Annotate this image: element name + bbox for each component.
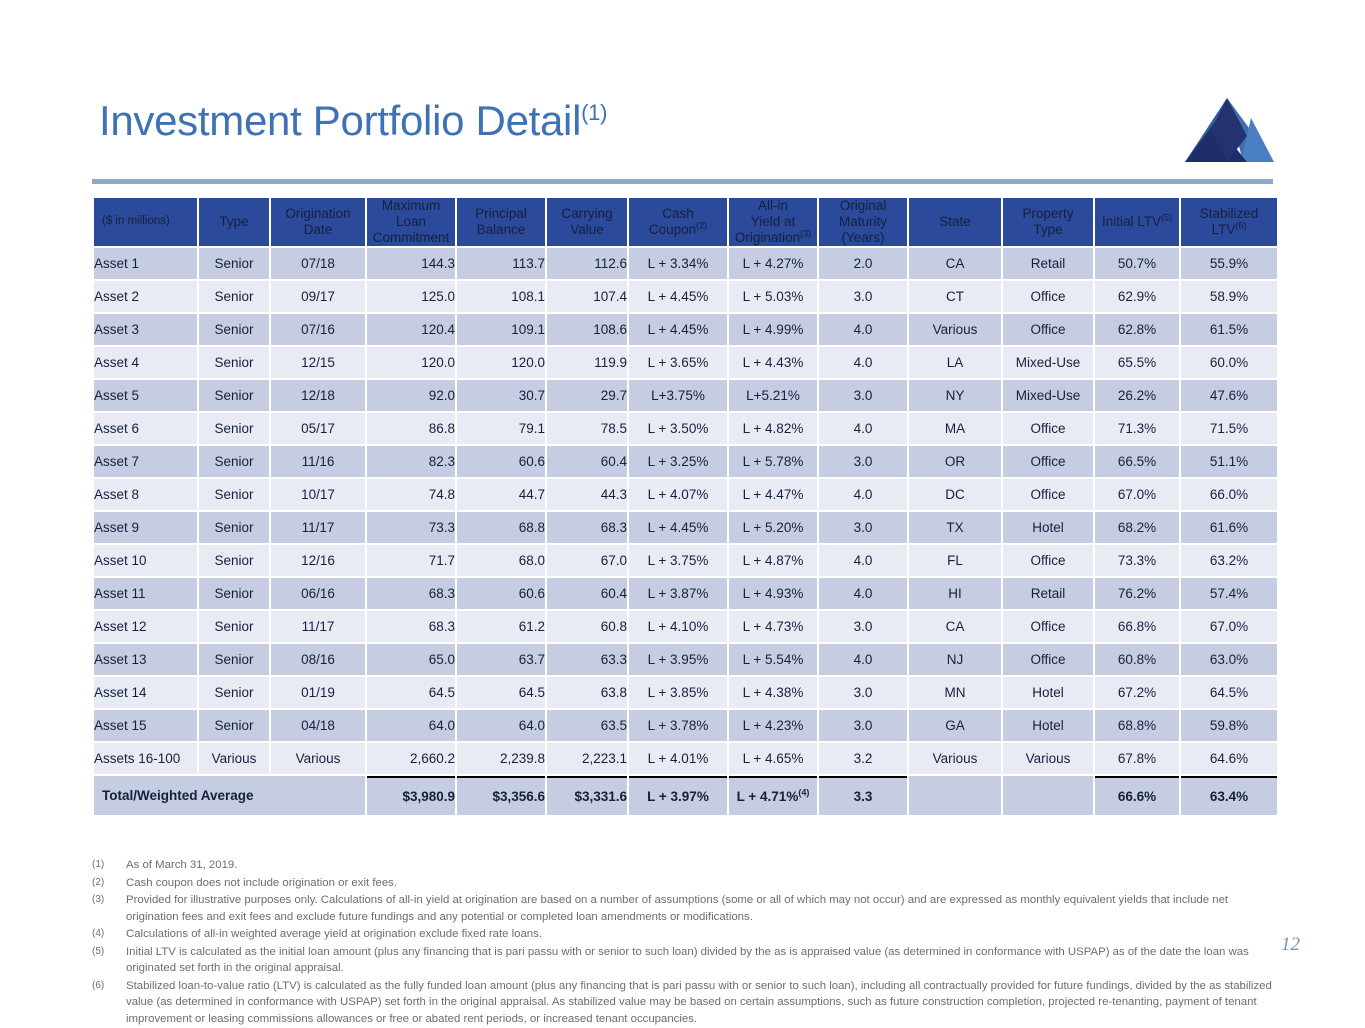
cell-r14-c11: 68.8%: [1095, 710, 1179, 741]
cell-r6-c10: Office: [1003, 446, 1093, 477]
cell-r14-c1: Senior: [199, 710, 269, 741]
header-line1: All-in: [758, 198, 788, 213]
cell-r14-c10: Hotel: [1003, 710, 1093, 741]
cell-r1-c1: Senior: [199, 281, 269, 312]
table-row[interactable]: Asset 10Senior12/1671.768.067.0L + 3.75%…: [94, 545, 1277, 576]
table-row[interactable]: Asset 1Senior07/18144.3113.7112.6L + 3.3…: [94, 248, 1277, 279]
total-principal-balance: $3,356.6: [457, 776, 545, 815]
cell-r3-c9: LA: [909, 347, 1001, 378]
cell-r0-c12: 55.9%: [1181, 248, 1277, 279]
cell-r4-c3: 92.0: [367, 380, 455, 411]
cell-r7-c1: Senior: [199, 479, 269, 510]
cell-r12-c8: 4.0: [819, 644, 907, 675]
cell-r10-c4: 60.6: [457, 578, 545, 609]
cell-r2-c0: Asset 3: [94, 314, 197, 345]
footnote-number: (4): [92, 926, 126, 943]
header-line3: Balance: [477, 222, 526, 237]
cell-r6-c0: Asset 7: [94, 446, 197, 477]
column-header-12[interactable]: StabilizedLTV(6): [1181, 198, 1277, 246]
cell-r4-c9: NY: [909, 380, 1001, 411]
footnote-item: (2)Cash coupon does not include originat…: [92, 875, 1282, 892]
cell-r9-c10: Office: [1003, 545, 1093, 576]
cell-r3-c5: 119.9: [547, 347, 627, 378]
cell-r4-c0: Asset 5: [94, 380, 197, 411]
cell-r11-c8: 3.0: [819, 611, 907, 642]
cell-r15-c2: Various: [271, 743, 365, 774]
footnote-number: (1): [92, 857, 126, 874]
column-header-9[interactable]: State: [909, 198, 1001, 246]
footnotes-block: (1)As of March 31, 2019.(2)Cash coupon d…: [92, 857, 1282, 1028]
cell-r5-c0: Asset 6: [94, 413, 197, 444]
cell-r7-c12: 66.0%: [1181, 479, 1277, 510]
cell-r1-c9: CT: [909, 281, 1001, 312]
table-row[interactable]: Asset 8Senior10/1774.844.744.3L + 4.07%L…: [94, 479, 1277, 510]
cell-r9-c3: 71.7: [367, 545, 455, 576]
cell-r8-c2: 11/17: [271, 512, 365, 543]
cell-r0-c2: 07/18: [271, 248, 365, 279]
cell-r10-c6: L + 3.87%: [629, 578, 727, 609]
cell-r7-c0: Asset 8: [94, 479, 197, 510]
cell-r4-c7: L+5.21%: [729, 380, 817, 411]
header-footnote-ref: (2): [696, 220, 707, 230]
cell-r2-c2: 07/16: [271, 314, 365, 345]
cell-r12-c9: NJ: [909, 644, 1001, 675]
total-label: Total/Weighted Average: [94, 776, 365, 815]
cell-r14-c9: GA: [909, 710, 1001, 741]
column-header-11[interactable]: Initial LTV(5): [1095, 198, 1179, 246]
header-line2: Cash: [662, 206, 694, 221]
cell-r12-c4: 63.7: [457, 644, 545, 675]
column-header-8[interactable]: OriginalMaturity(Years): [819, 198, 907, 246]
total-footnote-ref: (4): [798, 787, 809, 797]
cell-r14-c3: 64.0: [367, 710, 455, 741]
cell-r7-c7: L + 4.47%: [729, 479, 817, 510]
cell-r3-c7: L + 4.43%: [729, 347, 817, 378]
cell-r3-c11: 65.5%: [1095, 347, 1179, 378]
footnote-item: (3)Provided for illustrative purposes on…: [92, 892, 1282, 925]
cell-r2-c8: 4.0: [819, 314, 907, 345]
cell-r12-c3: 65.0: [367, 644, 455, 675]
cell-r11-c4: 61.2: [457, 611, 545, 642]
page-title-wrapper: Investment Portfolio Detail(1): [99, 100, 607, 142]
table-row[interactable]: Asset 9Senior11/1773.368.868.3L + 4.45%L…: [94, 512, 1277, 543]
header-line3: Value: [570, 222, 604, 237]
cell-r15-c9: Various: [909, 743, 1001, 774]
cell-r7-c9: DC: [909, 479, 1001, 510]
cell-r9-c0: Asset 10: [94, 545, 197, 576]
cell-r8-c11: 68.2%: [1095, 512, 1179, 543]
column-header-5[interactable]: CarryingValue: [547, 198, 627, 246]
cell-r3-c4: 120.0: [457, 347, 545, 378]
cell-r3-c2: 12/15: [271, 347, 365, 378]
cell-r14-c8: 3.0: [819, 710, 907, 741]
cell-r15-c5: 2,223.1: [547, 743, 627, 774]
cell-r1-c0: Asset 2: [94, 281, 197, 312]
cell-r10-c10: Retail: [1003, 578, 1093, 609]
cell-r8-c4: 68.8: [457, 512, 545, 543]
cell-r5-c3: 86.8: [367, 413, 455, 444]
cell-r0-c3: 144.3: [367, 248, 455, 279]
column-header-2[interactable]: OriginationDate: [271, 198, 365, 246]
footnote-text: Stabilized loan-to-value ratio (LTV) is …: [126, 978, 1282, 1028]
cell-r2-c12: 61.5%: [1181, 314, 1277, 345]
total-max-loan-commitment: $3,980.9: [367, 776, 455, 815]
cell-r14-c2: 04/18: [271, 710, 365, 741]
cell-r13-c10: Hotel: [1003, 677, 1093, 708]
header-line3: LTV: [1212, 222, 1236, 237]
cell-r9-c4: 68.0: [457, 545, 545, 576]
cell-r11-c2: 11/17: [271, 611, 365, 642]
footnote-text: Provided for illustrative purposes only.…: [126, 892, 1282, 925]
cell-r3-c8: 4.0: [819, 347, 907, 378]
cell-r0-c8: 2.0: [819, 248, 907, 279]
table-row[interactable]: Asset 2Senior09/17125.0108.1107.4L + 4.4…: [94, 281, 1277, 312]
cell-r0-c10: Retail: [1003, 248, 1093, 279]
investment-portfolio-table: ($ in millions)TypeOriginationDateMaximu…: [92, 196, 1279, 817]
table-row[interactable]: Asset 15Senior04/1864.064.063.5L + 3.78%…: [94, 710, 1277, 741]
column-header-3[interactable]: MaximumLoanCommitment: [367, 198, 455, 246]
total-row[interactable]: Total/Weighted Average$3,980.9$3,356.6$3…: [94, 776, 1277, 815]
cell-r3-c12: 60.0%: [1181, 347, 1277, 378]
header-line1: Original: [840, 198, 887, 213]
cell-r10-c9: HI: [909, 578, 1001, 609]
cell-r3-c10: Mixed-Use: [1003, 347, 1093, 378]
cell-r0-c1: Senior: [199, 248, 269, 279]
cell-r12-c11: 60.8%: [1095, 644, 1179, 675]
cell-r8-c12: 61.6%: [1181, 512, 1277, 543]
table-row[interactable]: Asset 4Senior12/15120.0120.0119.9L + 3.6…: [94, 347, 1277, 378]
cell-r7-c8: 4.0: [819, 479, 907, 510]
cell-r15-c4: 2,239.8: [457, 743, 545, 774]
cell-r5-c1: Senior: [199, 413, 269, 444]
cell-r7-c11: 67.0%: [1095, 479, 1179, 510]
cell-r5-c6: L + 3.50%: [629, 413, 727, 444]
cell-r4-c4: 30.7: [457, 380, 545, 411]
cell-r6-c11: 66.5%: [1095, 446, 1179, 477]
header-footnote-ref: (5): [1161, 212, 1172, 222]
cell-r10-c3: 68.3: [367, 578, 455, 609]
cell-r15-c8: 3.2: [819, 743, 907, 774]
cell-r2-c9: Various: [909, 314, 1001, 345]
cell-r4-c5: 29.7: [547, 380, 627, 411]
cell-r0-c0: Asset 1: [94, 248, 197, 279]
header-line3: Type: [219, 214, 248, 229]
total-cash-coupon: L + 3.97%: [629, 776, 727, 815]
cell-r9-c6: L + 3.75%: [629, 545, 727, 576]
footnote-number: (2): [92, 875, 126, 892]
cell-r5-c10: Office: [1003, 413, 1093, 444]
cell-r14-c6: L + 3.78%: [629, 710, 727, 741]
cell-r1-c3: 125.0: [367, 281, 455, 312]
header-line1: Maximum: [382, 198, 441, 213]
cell-r4-c12: 47.6%: [1181, 380, 1277, 411]
cell-r14-c4: 64.0: [457, 710, 545, 741]
cell-r10-c2: 06/16: [271, 578, 365, 609]
cell-r7-c4: 44.7: [457, 479, 545, 510]
title-underline-rule: [92, 179, 1273, 184]
cell-r13-c11: 67.2%: [1095, 677, 1179, 708]
cell-r1-c11: 62.9%: [1095, 281, 1179, 312]
cell-r5-c11: 71.3%: [1095, 413, 1179, 444]
header-line3: Commitment: [373, 230, 450, 245]
cell-r1-c2: 09/17: [271, 281, 365, 312]
cell-r14-c0: Asset 15: [94, 710, 197, 741]
cell-r6-c1: Senior: [199, 446, 269, 477]
mountain-logo: [1181, 96, 1274, 164]
column-header-1[interactable]: Type: [199, 198, 269, 246]
footnote-number: (3): [92, 892, 126, 925]
cell-r14-c7: L + 4.23%: [729, 710, 817, 741]
cell-r4-c6: L+3.75%: [629, 380, 727, 411]
cell-r13-c3: 64.5: [367, 677, 455, 708]
cell-r8-c8: 3.0: [819, 512, 907, 543]
total-initial-ltv: 66.6%: [1095, 776, 1179, 815]
cell-r10-c5: 60.4: [547, 578, 627, 609]
header-line3: Type: [1033, 222, 1062, 237]
cell-r6-c8: 3.0: [819, 446, 907, 477]
header-line2: Principal: [475, 206, 527, 221]
table-row[interactable]: Asset 14Senior01/1964.564.563.8L + 3.85%…: [94, 677, 1277, 708]
table-row[interactable]: Asset 5Senior12/1892.030.729.7L+3.75%L+5…: [94, 380, 1277, 411]
header-line3: Coupon: [649, 222, 696, 237]
cell-r6-c7: L + 5.78%: [729, 446, 817, 477]
cell-r12-c2: 08/16: [271, 644, 365, 675]
cell-r3-c6: L + 3.65%: [629, 347, 727, 378]
cell-r11-c10: Office: [1003, 611, 1093, 642]
column-header-4[interactable]: PrincipalBalance: [457, 198, 545, 246]
cell-r9-c9: FL: [909, 545, 1001, 576]
cell-r14-c12: 59.8%: [1181, 710, 1277, 741]
cell-r3-c3: 120.0: [367, 347, 455, 378]
cell-r4-c8: 3.0: [819, 380, 907, 411]
cell-r11-c0: Asset 12: [94, 611, 197, 642]
total-carrying-value: $3,331.6: [547, 776, 627, 815]
cell-r9-c2: 12/16: [271, 545, 365, 576]
cell-r15-c1: Various: [199, 743, 269, 774]
cell-r5-c7: L + 4.82%: [729, 413, 817, 444]
cell-r10-c1: Senior: [199, 578, 269, 609]
header-line2: Property: [1022, 206, 1073, 221]
cell-r11-c9: CA: [909, 611, 1001, 642]
column-header-7[interactable]: All-inYield atOrigination(3): [729, 198, 817, 246]
cell-r6-c6: L + 3.25%: [629, 446, 727, 477]
cell-r10-c8: 4.0: [819, 578, 907, 609]
cell-r1-c6: L + 4.45%: [629, 281, 727, 312]
header-line3: ($ in millions): [102, 215, 170, 227]
cell-r2-c7: L + 4.99%: [729, 314, 817, 345]
cell-r7-c10: Office: [1003, 479, 1093, 510]
cell-r10-c7: L + 4.93%: [729, 578, 817, 609]
table-row[interactable]: Asset 12Senior11/1768.361.260.8L + 4.10%…: [94, 611, 1277, 642]
header-line3: State: [939, 214, 971, 229]
cell-r5-c4: 79.1: [457, 413, 545, 444]
cell-r9-c12: 63.2%: [1181, 545, 1277, 576]
cell-r11-c6: L + 4.10%: [629, 611, 727, 642]
cell-r12-c12: 63.0%: [1181, 644, 1277, 675]
footnote-text: Initial LTV is calculated as the initial…: [126, 944, 1282, 977]
cell-r5-c2: 05/17: [271, 413, 365, 444]
cell-r2-c5: 108.6: [547, 314, 627, 345]
page-title: Investment Portfolio Detail(1): [99, 100, 607, 142]
cell-r4-c1: Senior: [199, 380, 269, 411]
cell-r2-c10: Office: [1003, 314, 1093, 345]
cell-r10-c11: 76.2%: [1095, 578, 1179, 609]
header-line3: (Years): [841, 230, 884, 245]
cell-r1-c5: 107.4: [547, 281, 627, 312]
cell-r0-c7: L + 4.27%: [729, 248, 817, 279]
cell-r9-c11: 73.3%: [1095, 545, 1179, 576]
cell-r8-c9: TX: [909, 512, 1001, 543]
header-line3: Date: [304, 222, 333, 237]
cell-r6-c2: 11/16: [271, 446, 365, 477]
cell-r15-c3: 2,660.2: [367, 743, 455, 774]
table-header-row: ($ in millions)TypeOriginationDateMaximu…: [94, 198, 1277, 246]
table-row[interactable]: Asset 6Senior05/1786.879.178.5L + 3.50%L…: [94, 413, 1277, 444]
cell-r6-c5: 60.4: [547, 446, 627, 477]
header-line2: Yield at: [751, 214, 796, 229]
footnote-number: (6): [92, 978, 126, 1028]
footnote-text: As of March 31, 2019.: [126, 857, 1282, 874]
cell-r1-c8: 3.0: [819, 281, 907, 312]
cell-r15-c10: Various: [1003, 743, 1093, 774]
cell-r10-c12: 57.4%: [1181, 578, 1277, 609]
cell-r7-c2: 10/17: [271, 479, 365, 510]
cell-r12-c7: L + 5.54%: [729, 644, 817, 675]
column-header-0[interactable]: ($ in millions): [94, 198, 197, 246]
cell-r5-c9: MA: [909, 413, 1001, 444]
cell-r0-c6: L + 3.34%: [629, 248, 727, 279]
cell-r13-c2: 01/19: [271, 677, 365, 708]
cell-r0-c11: 50.7%: [1095, 248, 1179, 279]
cell-r6-c12: 51.1%: [1181, 446, 1277, 477]
header-line2: Maturity: [839, 214, 887, 229]
table-row[interactable]: Asset 7Senior11/1682.360.660.4L + 3.25%L…: [94, 446, 1277, 477]
total-state: [909, 776, 1001, 815]
header-line2: Carrying: [561, 206, 612, 221]
header-line3: Initial LTV: [1102, 214, 1161, 229]
cell-r8-c5: 68.3: [547, 512, 627, 543]
footnote-item: (1)As of March 31, 2019.: [92, 857, 1282, 874]
footnote-item: (5)Initial LTV is calculated as the init…: [92, 944, 1282, 977]
cell-r15-c12: 64.6%: [1181, 743, 1277, 774]
cell-r3-c1: Senior: [199, 347, 269, 378]
cell-r8-c10: Hotel: [1003, 512, 1093, 543]
page-title-text: Investment Portfolio Detail: [99, 97, 581, 144]
cell-r13-c0: Asset 14: [94, 677, 197, 708]
cell-r15-c7: L + 4.65%: [729, 743, 817, 774]
cell-r5-c5: 78.5: [547, 413, 627, 444]
column-header-10[interactable]: PropertyType: [1003, 198, 1093, 246]
cell-r9-c7: L + 4.87%: [729, 545, 817, 576]
total-original-maturity: 3.3: [819, 776, 907, 815]
cell-r12-c5: 63.3: [547, 644, 627, 675]
cell-r13-c12: 64.5%: [1181, 677, 1277, 708]
cell-r1-c4: 108.1: [457, 281, 545, 312]
footnote-text: Cash coupon does not include origination…: [126, 875, 1282, 892]
cell-r7-c6: L + 4.07%: [629, 479, 727, 510]
footnote-item: (4)Calculations of all-in weighted avera…: [92, 926, 1282, 943]
cell-r2-c4: 109.1: [457, 314, 545, 345]
cell-r12-c1: Senior: [199, 644, 269, 675]
cell-r0-c9: CA: [909, 248, 1001, 279]
footnote-item: (6)Stabilized loan-to-value ratio (LTV) …: [92, 978, 1282, 1028]
cell-r9-c1: Senior: [199, 545, 269, 576]
cell-r13-c9: MN: [909, 677, 1001, 708]
cell-r13-c7: L + 4.38%: [729, 677, 817, 708]
slide-root: Investment Portfolio Detail(1) ($ in mil…: [0, 0, 1365, 1024]
cell-r11-c7: L + 4.73%: [729, 611, 817, 642]
footnote-text: Calculations of all-in weighted average …: [126, 926, 1282, 943]
header-footnote-ref: (6): [1235, 220, 1246, 230]
total-all-in-yield: L + 4.71%(4): [729, 776, 817, 815]
cell-r4-c10: Mixed-Use: [1003, 380, 1093, 411]
cell-r11-c3: 68.3: [367, 611, 455, 642]
cell-r12-c10: Office: [1003, 644, 1093, 675]
footnote-number: (5): [92, 944, 126, 977]
cell-r1-c7: L + 5.03%: [729, 281, 817, 312]
table-body: Asset 1Senior07/18144.3113.7112.6L + 3.3…: [94, 248, 1277, 815]
cell-r9-c8: 4.0: [819, 545, 907, 576]
cell-r12-c0: Asset 13: [94, 644, 197, 675]
cell-r6-c9: OR: [909, 446, 1001, 477]
cell-r8-c3: 73.3: [367, 512, 455, 543]
total-stabilized-ltv: 63.4%: [1181, 776, 1277, 815]
table-row[interactable]: Asset 13Senior08/1665.063.763.3L + 3.95%…: [94, 644, 1277, 675]
table-row[interactable]: Asset 11Senior06/1668.360.660.4L + 3.87%…: [94, 578, 1277, 609]
column-header-6[interactable]: CashCoupon(2): [629, 198, 727, 246]
cell-r2-c11: 62.8%: [1095, 314, 1179, 345]
cell-r2-c1: Senior: [199, 314, 269, 345]
header-line3: Origination: [735, 230, 800, 245]
cell-r11-c12: 67.0%: [1181, 611, 1277, 642]
cell-r1-c10: Office: [1003, 281, 1093, 312]
cell-r5-c8: 4.0: [819, 413, 907, 444]
cell-r11-c11: 66.8%: [1095, 611, 1179, 642]
cell-r13-c8: 3.0: [819, 677, 907, 708]
table-row[interactable]: Assets 16-100VariousVarious2,660.22,239.…: [94, 743, 1277, 774]
cell-r8-c7: L + 5.20%: [729, 512, 817, 543]
cell-r4-c11: 26.2%: [1095, 380, 1179, 411]
cell-r2-c3: 120.4: [367, 314, 455, 345]
cell-r13-c5: 63.8: [547, 677, 627, 708]
cell-r7-c3: 74.8: [367, 479, 455, 510]
cell-r13-c4: 64.5: [457, 677, 545, 708]
cell-r5-c12: 71.5%: [1181, 413, 1277, 444]
cell-r8-c6: L + 4.45%: [629, 512, 727, 543]
total-property-type: [1003, 776, 1093, 815]
cell-r4-c2: 12/18: [271, 380, 365, 411]
header-line2: Origination: [285, 206, 350, 221]
page-title-superscript: (1): [581, 100, 607, 125]
cell-r12-c6: L + 3.95%: [629, 644, 727, 675]
cell-r8-c1: Senior: [199, 512, 269, 543]
cell-r13-c6: L + 3.85%: [629, 677, 727, 708]
table-row[interactable]: Asset 3Senior07/16120.4109.1108.6L + 4.4…: [94, 314, 1277, 345]
cell-r10-c0: Asset 11: [94, 578, 197, 609]
cell-r8-c0: Asset 9: [94, 512, 197, 543]
cell-r3-c0: Asset 4: [94, 347, 197, 378]
cell-r1-c12: 58.9%: [1181, 281, 1277, 312]
cell-r6-c4: 60.6: [457, 446, 545, 477]
header-line2: Stabilized: [1200, 206, 1259, 221]
cell-r15-c11: 67.8%: [1095, 743, 1179, 774]
cell-r0-c4: 113.7: [457, 248, 545, 279]
cell-r9-c5: 67.0: [547, 545, 627, 576]
cell-r0-c5: 112.6: [547, 248, 627, 279]
cell-r2-c6: L + 4.45%: [629, 314, 727, 345]
cell-r13-c1: Senior: [199, 677, 269, 708]
cell-r15-c6: L + 4.01%: [629, 743, 727, 774]
